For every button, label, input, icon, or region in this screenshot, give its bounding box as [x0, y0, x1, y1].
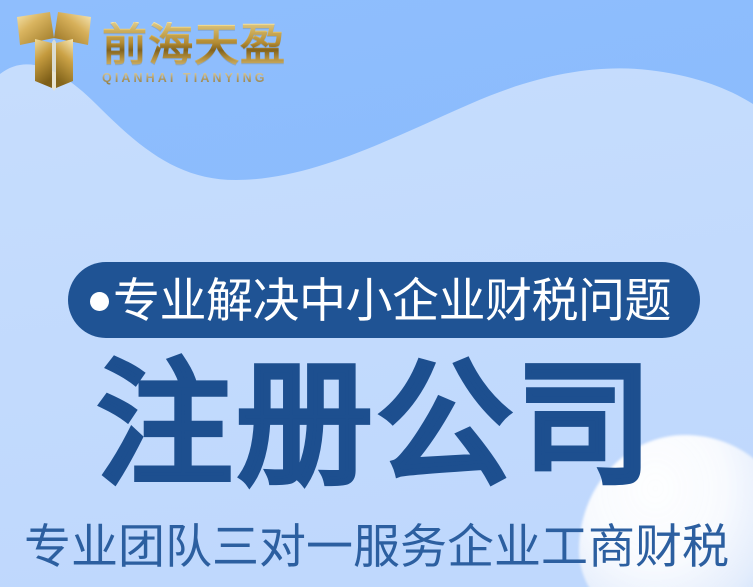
gold-t-mark-icon: [14, 8, 94, 96]
brand-logo: 前海天盈 QIANHAI TIANYING: [14, 8, 286, 96]
brand-name-en: QIANHAI TIANYING: [102, 71, 286, 85]
bullet-dot-icon: [90, 292, 109, 311]
brand-wordmark: 前海天盈 QIANHAI TIANYING: [102, 8, 286, 85]
tagline: 专业团队三对一服务企业工商财税: [0, 522, 753, 573]
headline-pill-text: 专业解决中小企业财税问题: [113, 277, 671, 324]
page-title: 注册公司: [0, 356, 753, 495]
promo-banner: 前海天盈 QIANHAI TIANYING 专业解决中小企业财税问题 注册公司 …: [0, 0, 753, 587]
headline-pill: 专业解决中小企业财税问题: [68, 262, 700, 338]
brand-name-cn: 前海天盈: [102, 22, 286, 69]
